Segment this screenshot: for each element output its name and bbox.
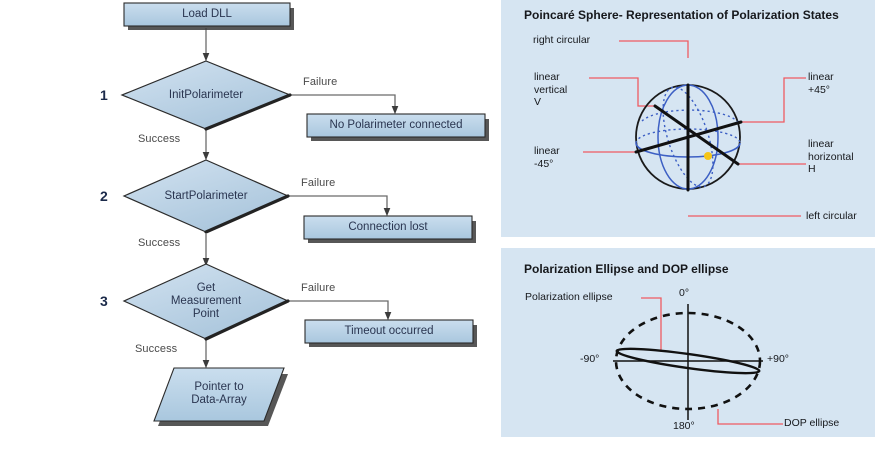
label-right-circular: right circular	[533, 34, 590, 47]
node-timeout-label: Timeout occurred	[305, 320, 473, 343]
step-number-2: 2	[100, 188, 108, 204]
label-degree-plus-90: +90°	[767, 353, 789, 366]
node-load-dll-label: Load DLL	[124, 3, 290, 26]
label-degree-180: 180°	[673, 420, 695, 433]
edge-label-init-success: Success	[138, 133, 180, 145]
label-linear-plus45: linear +45°	[808, 71, 834, 96]
label-polarization-ellipse: Polarization ellipse	[525, 291, 613, 304]
flowchart-diagram: Load DLL InitPolarimeter StartPolarimete…	[0, 0, 500, 451]
node-init-label: InitPolarimeter	[146, 83, 266, 107]
label-linear-horizontal: linear horizontal H	[808, 138, 854, 176]
edge-label-start-success: Success	[138, 237, 180, 249]
edge-label-start-failure: Failure	[301, 177, 335, 189]
node-connection-lost-label: Connection lost	[304, 216, 472, 239]
label-linear-vertical: linear vertical V	[534, 71, 567, 109]
polarization-ellipse-panel: Polarization Ellipse and DOP ellipse Pol…	[501, 248, 875, 437]
edge-label-getpoint-success: Success	[135, 343, 177, 355]
label-degree-0: 0°	[679, 287, 689, 300]
node-start-label: StartPolarimeter	[144, 184, 268, 208]
label-dop-ellipse: DOP ellipse	[784, 417, 839, 430]
edge-label-getpoint-failure: Failure	[301, 282, 335, 294]
poincare-sphere-panel: Poincaré Sphere- Representation of Polar…	[501, 0, 875, 237]
node-get-point-label: Get Measurement Point	[152, 280, 260, 322]
label-left-circular: left circular	[806, 210, 857, 223]
step-number-1: 1	[100, 87, 108, 103]
state-marker	[704, 152, 712, 160]
polarization-ellipse-graphic	[501, 248, 875, 437]
latitude-dotted	[642, 110, 739, 124]
ellipse-axes	[613, 304, 763, 420]
label-degree-minus-90: -90°	[580, 353, 599, 366]
step-number-3: 3	[100, 293, 108, 309]
label-linear-minus45: linear -45°	[534, 145, 560, 170]
node-no-polarimeter-label: No Polarimeter connected	[307, 114, 485, 137]
edge-label-init-failure: Failure	[303, 76, 337, 88]
node-pointer-label: Pointer to Data-Array	[160, 378, 278, 410]
